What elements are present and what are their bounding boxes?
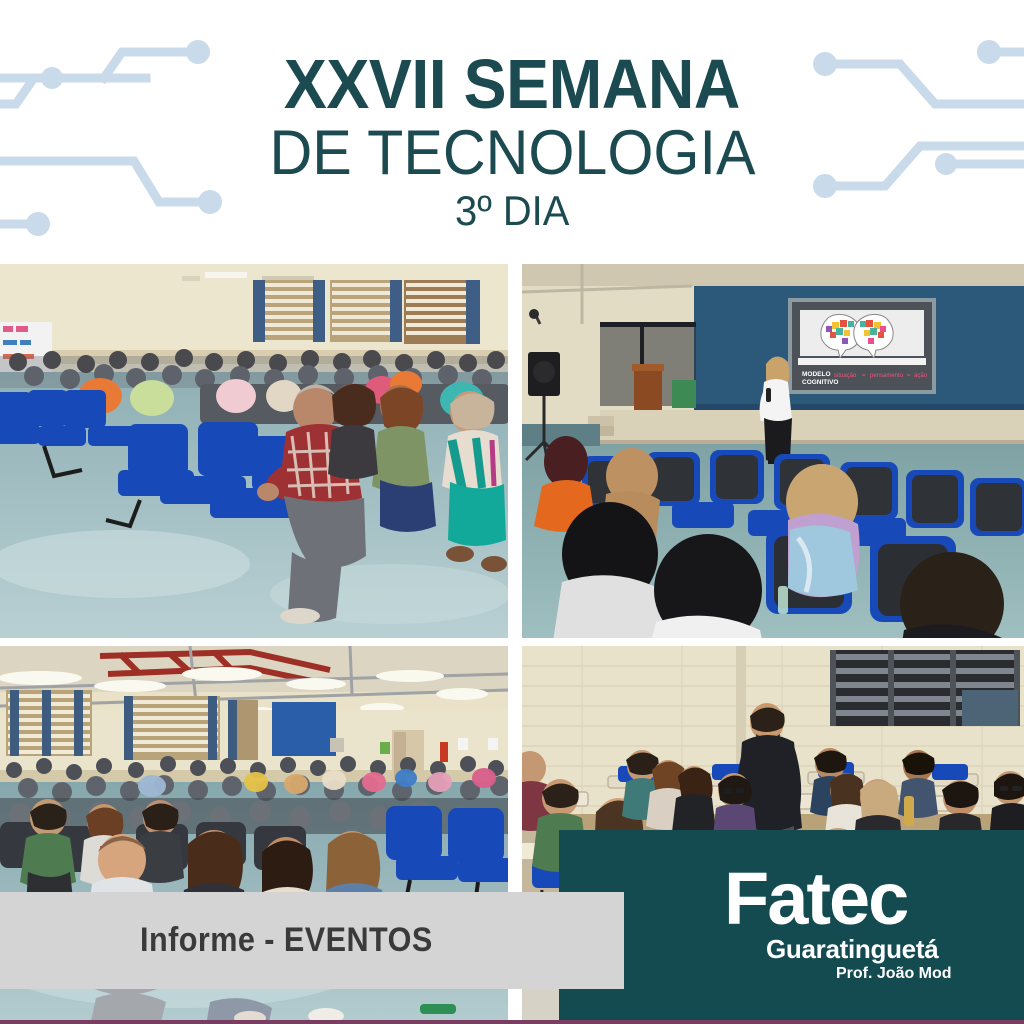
poster-title-line-3: 3º DIA bbox=[455, 189, 569, 233]
poster-header: XXVII SEMANA DE TECNOLOGIA 3º DIA bbox=[0, 0, 1024, 264]
informe-banner: Informe - EVENTOS bbox=[0, 892, 624, 989]
informe-banner-label: Informe - EVENTOS bbox=[140, 921, 433, 960]
fatec-brand-name: Fatec bbox=[724, 867, 907, 931]
svg-text:pensamento: pensamento bbox=[870, 373, 904, 379]
svg-text:situação: situação bbox=[834, 373, 857, 379]
poster-title-line-1: XXVII SEMANA bbox=[284, 50, 740, 119]
poster-canvas: XXVII SEMANA DE TECNOLOGIA 3º DIA bbox=[0, 0, 1024, 1024]
fatec-patron-name: Prof. João Mod bbox=[836, 965, 952, 983]
svg-text:=: = bbox=[907, 373, 911, 379]
bottom-accent-rule bbox=[0, 1020, 1024, 1024]
photo-top-left bbox=[0, 264, 508, 638]
photo-top-right: MODELO COGNITIVO situação = pensamento =… bbox=[522, 264, 1024, 638]
fatec-campus-name: Guaratinguetá bbox=[766, 935, 938, 964]
svg-text:ação: ação bbox=[914, 373, 928, 379]
svg-text:COGNITIVO: COGNITIVO bbox=[802, 379, 838, 386]
poster-title-block: XXVII SEMANA DE TECNOLOGIA 3º DIA bbox=[0, 0, 1024, 264]
fatec-logo: Fatec Guaratinguetá Prof. João Mod bbox=[559, 830, 1024, 1024]
svg-text:=: = bbox=[862, 373, 866, 379]
svg-text:MODELO: MODELO bbox=[802, 371, 831, 378]
poster-title-line-2: DE TECNOLOGIA bbox=[269, 121, 755, 185]
